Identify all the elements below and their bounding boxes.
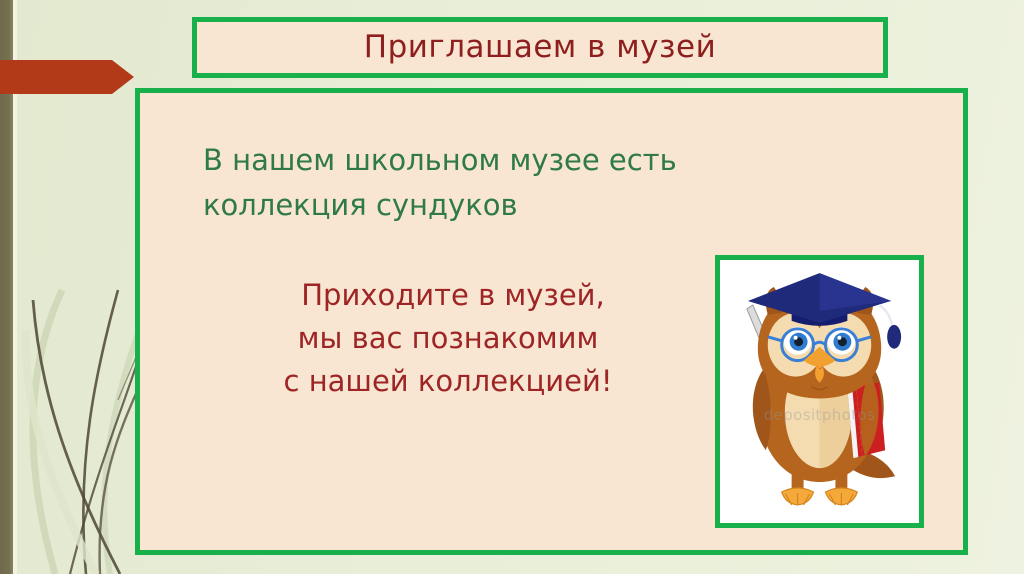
slide-canvas: Приглашаем в музей В нашем школьном музе…	[0, 0, 1024, 574]
content-panel: В нашем школьном музее есть коллекция су…	[135, 88, 968, 555]
text-column: В нашем школьном музее есть коллекция су…	[185, 138, 705, 403]
page-title: Приглашаем в музей	[364, 32, 716, 63]
paragraph-green: В нашем школьном музее есть коллекция су…	[185, 138, 705, 228]
paragraph-red-line-1: Приходите в музей,	[291, 278, 605, 312]
owl-picture-frame: depositphotos	[715, 255, 924, 528]
owl-illustration-icon	[720, 260, 919, 523]
paragraph-red-line-2: мы вас познакомим	[298, 321, 599, 355]
title-box: Приглашаем в музей	[192, 17, 888, 78]
paragraph-red-line-3: с нашей коллекцией!	[284, 364, 613, 398]
arrow-banner-icon	[0, 60, 134, 94]
paragraph-green-line-1: В нашем школьном музее есть	[203, 143, 677, 177]
paragraph-green-line-2: коллекция сундуков	[203, 188, 518, 222]
paragraph-red: Приходите в музей, мы вас познакомим с н…	[185, 274, 705, 403]
